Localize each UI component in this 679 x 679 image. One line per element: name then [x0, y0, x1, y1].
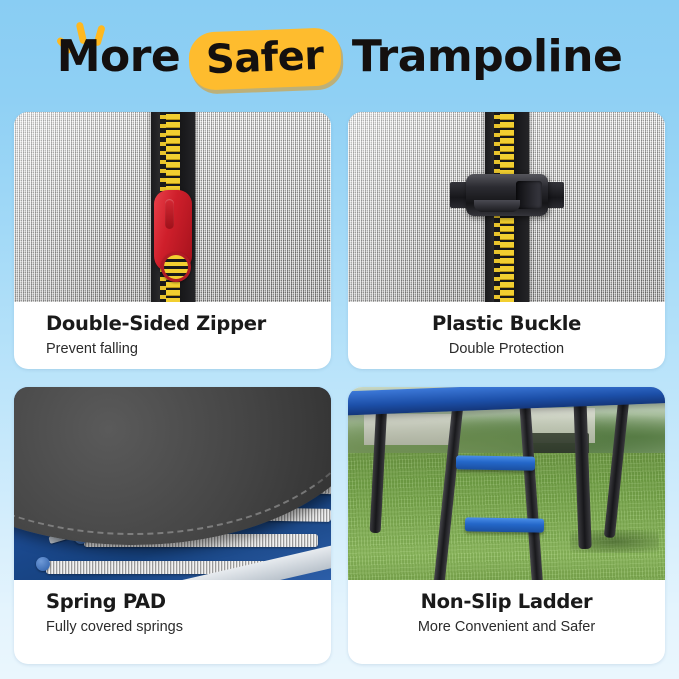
feature-card-double-sided-zipper[interactable]: Double-Sided Zipper Prevent falling	[14, 112, 331, 369]
feature-card-non-slip-ladder[interactable]: Non-Slip Ladder More Convenient and Safe…	[348, 387, 665, 664]
card-caption: Plastic Buckle Double Protection	[348, 302, 665, 359]
card-caption: Double-Sided Zipper Prevent falling	[14, 302, 331, 359]
card-title: Spring PAD	[46, 590, 331, 614]
feature-card-grid: Double-Sided Zipper Prevent falling Plas…	[14, 112, 665, 664]
zipper-photo	[14, 112, 331, 302]
zipper-slider-ring	[161, 252, 191, 282]
safer-badge-label: Safer	[205, 33, 324, 83]
feature-card-plastic-buckle[interactable]: Plastic Buckle Double Protection	[348, 112, 665, 369]
spring-hook	[36, 557, 50, 571]
card-title: Double-Sided Zipper	[46, 312, 331, 336]
page-header: MoreSaferTrampoline	[0, 0, 679, 104]
safer-badge: Safer	[188, 27, 342, 91]
card-caption: Spring PAD Fully covered springs	[14, 580, 331, 637]
page-title: MoreSaferTrampoline	[0, 30, 679, 88]
buckle-body	[466, 174, 548, 216]
feature-card-spring-pad[interactable]: Spring PAD Fully covered springs	[14, 387, 331, 664]
title-word-more: More	[57, 31, 181, 82]
spring-pad-photo	[14, 387, 331, 580]
ladder-step	[465, 518, 544, 533]
card-subtitle: More Convenient and Safer	[348, 618, 665, 636]
ladder-photo	[348, 387, 665, 580]
buckle-photo	[348, 112, 665, 302]
card-subtitle: Double Protection	[348, 340, 665, 358]
card-subtitle: Fully covered springs	[46, 618, 331, 636]
card-title: Non-Slip Ladder	[348, 590, 665, 614]
plastic-buckle	[450, 170, 564, 220]
card-title: Plastic Buckle	[348, 312, 665, 336]
title-word-trampoline: Trampoline	[352, 31, 622, 82]
card-subtitle: Prevent falling	[46, 340, 331, 358]
ladder-step	[456, 456, 535, 471]
card-caption: Non-Slip Ladder More Convenient and Safe…	[348, 580, 665, 637]
